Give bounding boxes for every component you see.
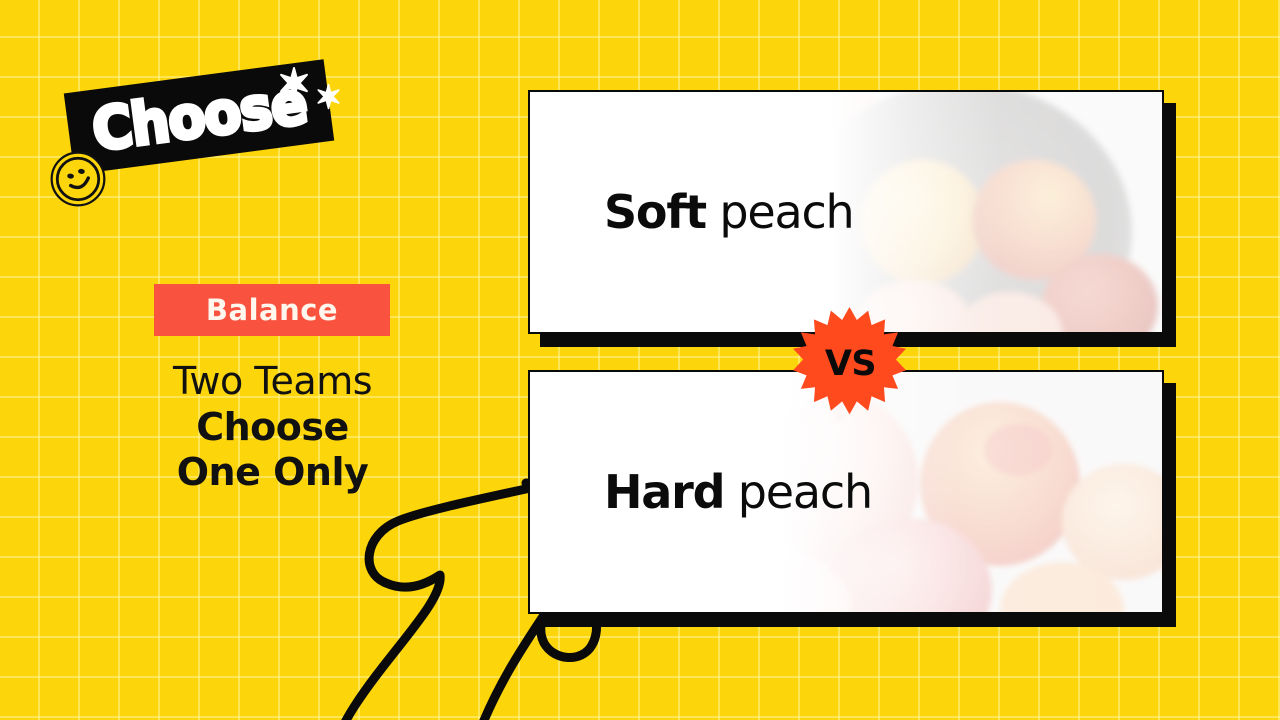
- sparkle-asterisk-icon-small: [315, 83, 342, 110]
- headline-line-2: Choose: [0, 405, 545, 450]
- headline-line-3: One Only: [0, 450, 545, 495]
- headline-line-1: Two Teams: [0, 358, 545, 405]
- option-card-label-soft: Soft peach: [604, 185, 854, 239]
- option-light-word: peach: [724, 465, 872, 519]
- balance-badge[interactable]: Balance: [154, 284, 390, 336]
- sparkle-asterisk-icon: [277, 66, 311, 100]
- vs-badge: VS: [793, 307, 906, 420]
- option-light-word: peach: [706, 185, 854, 239]
- headline-block: Two Teams Choose One Only: [0, 358, 545, 495]
- option-bold-word: Hard: [604, 465, 724, 519]
- option-card-label-hard: Hard peach: [604, 465, 872, 519]
- vs-label: VS: [793, 307, 906, 420]
- balance-badge-label: Balance: [206, 293, 338, 327]
- poster-canvas: Choose Balance Two: [0, 0, 1280, 720]
- option-bold-word: Soft: [604, 185, 706, 239]
- smiley-face-icon: [50, 151, 106, 207]
- option-card-soft-peach[interactable]: Soft peach: [528, 90, 1164, 334]
